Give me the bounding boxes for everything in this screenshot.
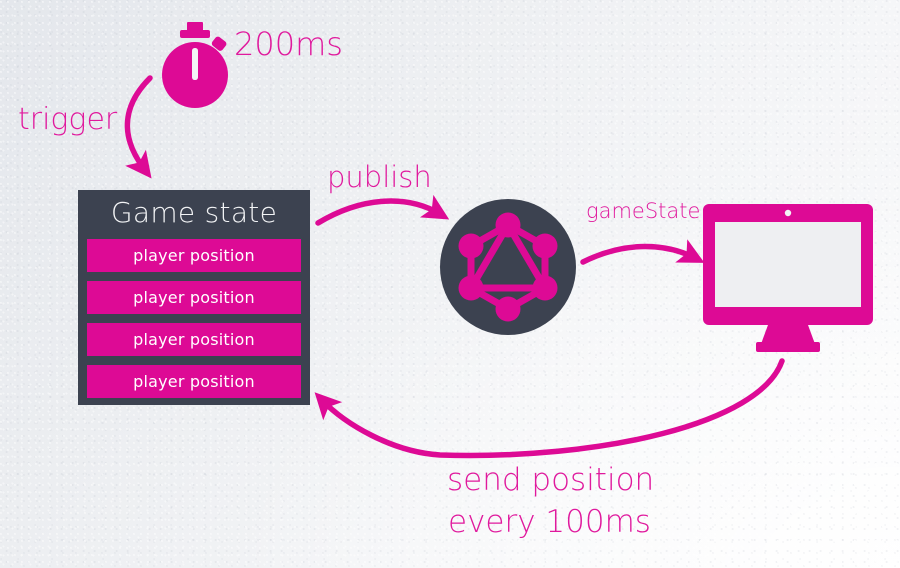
timer-value-label: 200ms xyxy=(234,25,343,63)
edge-trigger-label: trigger xyxy=(18,102,117,137)
edge-publish-arrow xyxy=(318,201,440,223)
diagram-canvas: Game state player position player positi… xyxy=(0,0,900,568)
game-state-title: Game state xyxy=(87,196,301,230)
edge-trigger-arrow xyxy=(127,78,150,170)
game-state-panel: Game state player position player positi… xyxy=(78,190,310,405)
player-position-row: player position xyxy=(87,323,301,356)
desktop-monitor-icon xyxy=(698,200,878,352)
edge-send-position-arrow xyxy=(322,361,782,455)
edge-publish-label: publish xyxy=(327,160,432,194)
player-position-row: player position xyxy=(87,281,301,314)
player-position-row: player position xyxy=(87,365,301,398)
edge-send-position-label-line2: every 100ms xyxy=(448,504,651,540)
edge-send-position-label-line1: send position xyxy=(447,462,654,498)
player-position-row: player position xyxy=(87,239,301,272)
stopwatch-icon xyxy=(158,22,232,108)
edge-gamestate-arrow xyxy=(583,247,695,263)
edge-gamestate-label: gameState xyxy=(586,199,700,223)
graphql-logo-icon xyxy=(440,199,576,335)
